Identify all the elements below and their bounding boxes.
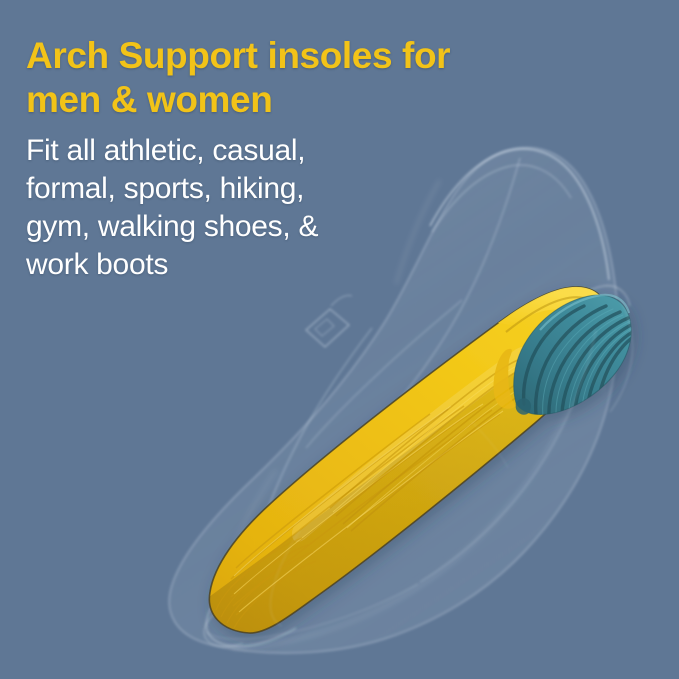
- subhead-line-2: formal, sports, hiking,: [26, 170, 566, 208]
- headline-line-1: Arch Support insoles for: [26, 34, 566, 78]
- headline-line-2: men & women: [26, 78, 566, 122]
- page-title: Arch Support insoles for men & women: [26, 34, 566, 122]
- subhead-line-4: work boots: [26, 246, 566, 284]
- marketing-copy: Arch Support insoles for men & women Fit…: [26, 34, 566, 284]
- subhead-line-3: gym, walking shoes, &: [26, 208, 566, 246]
- shoe-brand-tag: [306, 295, 352, 347]
- subhead-line-1: Fit all athletic, casual,: [26, 132, 566, 170]
- page-subtitle: Fit all athletic, casual, formal, sports…: [26, 132, 566, 284]
- product-banner: Arch Support insoles for men & women Fit…: [0, 0, 679, 679]
